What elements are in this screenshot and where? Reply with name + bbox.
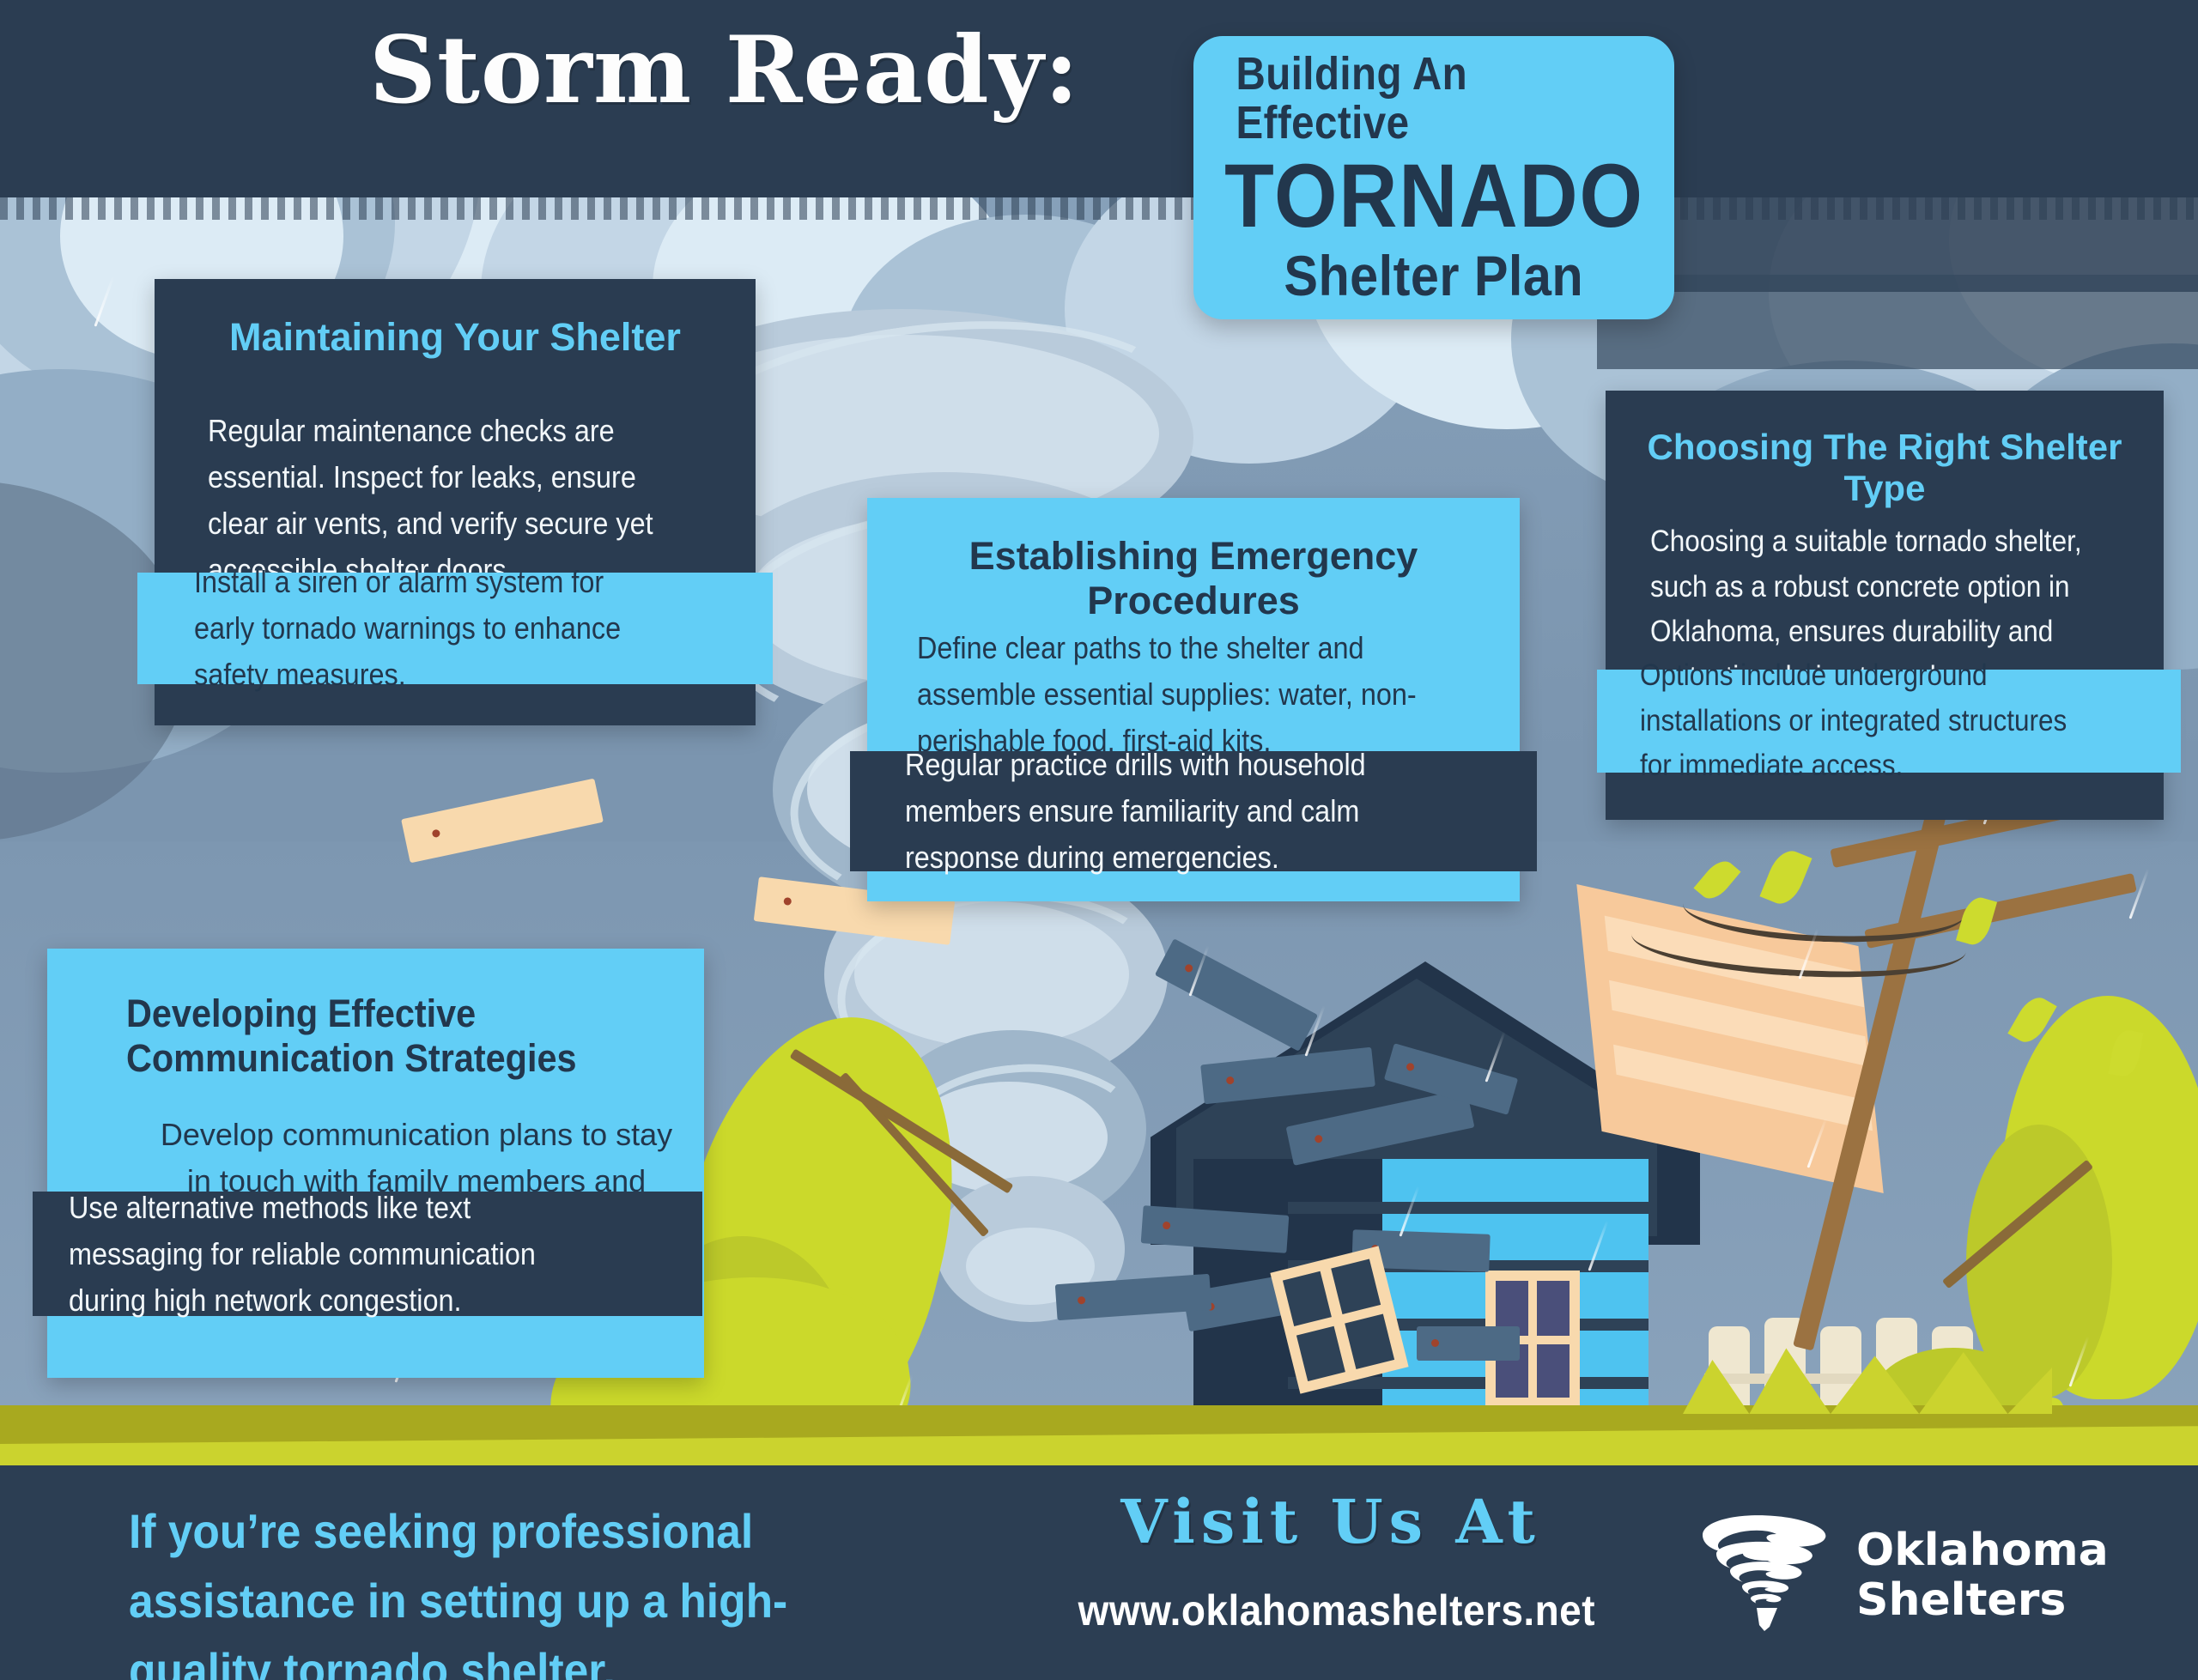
highlight-text: Use alternative methods like text messag… <box>69 1185 606 1324</box>
card-title: Maintaining Your Shelter <box>155 315 756 360</box>
brand-line-2: Shelters <box>1856 1575 2109 1625</box>
footer-website-url[interactable]: www.oklahomashelters.net <box>1078 1586 1584 1635</box>
card-highlight-developing-effective-communication-strategies[interactable]: Use alternative methods like text messag… <box>33 1192 702 1316</box>
highlight-text: Regular practice drills with household m… <box>905 742 1424 881</box>
debris-plank <box>1417 1326 1520 1361</box>
header-badge: Building An Effective TORNADO Shelter Pl… <box>1193 36 1674 319</box>
card-title: Developing Effective Communication Strat… <box>126 992 624 1081</box>
brand-logo[interactable]: Oklahoma Shelters <box>1696 1507 2142 1644</box>
badge-line-3: Shelter Plan <box>1284 246 1584 306</box>
storm-band-extension <box>1597 275 2198 369</box>
card-highlight-establishing-emergency-procedures[interactable]: Regular practice drills with household m… <box>850 751 1537 871</box>
footer-visit-label: Visit Us At <box>1056 1486 1606 1557</box>
badge-line-2: TORNADO <box>1224 150 1644 242</box>
card-title: Choosing The Right Shelter Type <box>1606 427 2164 510</box>
brand-name: Oklahoma Shelters <box>1856 1525 2109 1625</box>
highlight-text: Options include underground installation… <box>1640 653 2088 789</box>
card-highlight-maintaining-your-shelter[interactable]: Install a siren or alarm system for earl… <box>137 573 773 684</box>
card-title: Establishing Emergency Procedures <box>867 534 1520 623</box>
tornado-icon <box>1696 1511 1837 1640</box>
footer-cta-text: If you’re seeking professional assistanc… <box>129 1496 919 1680</box>
brand-line-1: Oklahoma <box>1856 1525 2109 1575</box>
page-title: Storm Ready: <box>369 24 1211 117</box>
card-highlight-choosing-the-right-shelter-type[interactable]: Options include underground installation… <box>1597 670 2181 773</box>
badge-line-1: Building An Effective <box>1236 50 1631 147</box>
footer: If you’re seeking professional assistanc… <box>0 1465 2198 1680</box>
highlight-text: Install a siren or alarm system for earl… <box>194 559 664 698</box>
infographic-canvas: Storm Ready: Building An Effective TORNA… <box>0 0 2198 1680</box>
